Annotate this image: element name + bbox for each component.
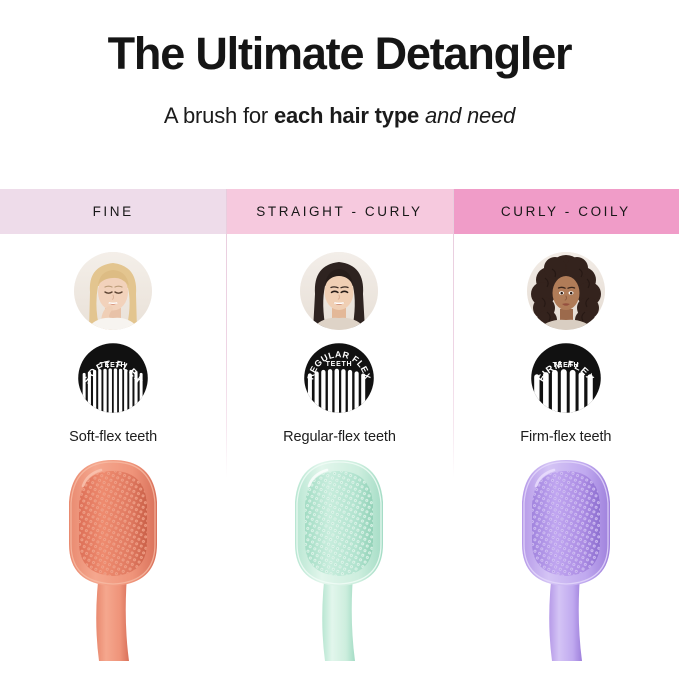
page-title: The Ultimate Detangler xyxy=(0,31,679,76)
header-cell-straight-curly: STRAIGHT - CURLY xyxy=(226,189,452,234)
subtitle-text-italic: and need xyxy=(419,103,515,128)
hair-type-header-row: FINE STRAIGHT - CURLY CURLY - COILY xyxy=(0,189,679,234)
badge-sub-text: TEETH xyxy=(100,362,127,369)
coral-detangler-brush xyxy=(53,456,173,661)
teeth-caption: Soft-flex teeth xyxy=(69,429,157,445)
badge-sub-text: TEETH xyxy=(552,362,579,369)
comparison-columns: SOFT FLEX TEETH Soft-flex teeth xyxy=(0,234,679,679)
subtitle-text-bold: each hair type xyxy=(274,103,419,128)
column-fine: SOFT FLEX TEETH Soft-flex teeth xyxy=(0,234,226,679)
subtitle-text-plain: A brush for xyxy=(164,103,274,128)
column-divider xyxy=(226,189,227,478)
column-divider xyxy=(453,189,454,478)
hair-type-label: STRAIGHT - CURLY xyxy=(256,204,422,219)
badge-sub-text: TEETH xyxy=(326,361,353,368)
column-straight-curly: REGULAR FLEX TEETH Regular-flex teeth xyxy=(226,234,452,679)
soft-flex-teeth-badge: SOFT FLEX TEETH xyxy=(76,341,150,415)
hair-type-label: FINE xyxy=(93,204,134,219)
portrait-dark-straight-hair-model xyxy=(300,252,378,330)
portrait-blonde-model xyxy=(74,252,152,330)
purple-detangler-brush xyxy=(506,456,626,661)
teeth-caption: Regular-flex teeth xyxy=(283,429,396,445)
header-cell-curly-coily: CURLY - COILY xyxy=(453,189,679,234)
portrait-curly-hair-model xyxy=(527,252,605,330)
page-subtitle: A brush for each hair type and need xyxy=(0,103,679,129)
column-curly-coily: FIRM FLEX TEETH Firm-flex teeth xyxy=(453,234,679,679)
mint-detangler-brush xyxy=(279,456,399,661)
header-cell-fine: FINE xyxy=(0,189,226,234)
title-block: The Ultimate Detangler A brush for each … xyxy=(0,0,679,129)
teeth-caption: Firm-flex teeth xyxy=(520,429,611,445)
hair-type-label: CURLY - COILY xyxy=(501,204,631,219)
firm-flex-teeth-badge: FIRM FLEX TEETH xyxy=(529,341,603,415)
regular-flex-teeth-badge: REGULAR FLEX TEETH xyxy=(302,341,376,415)
